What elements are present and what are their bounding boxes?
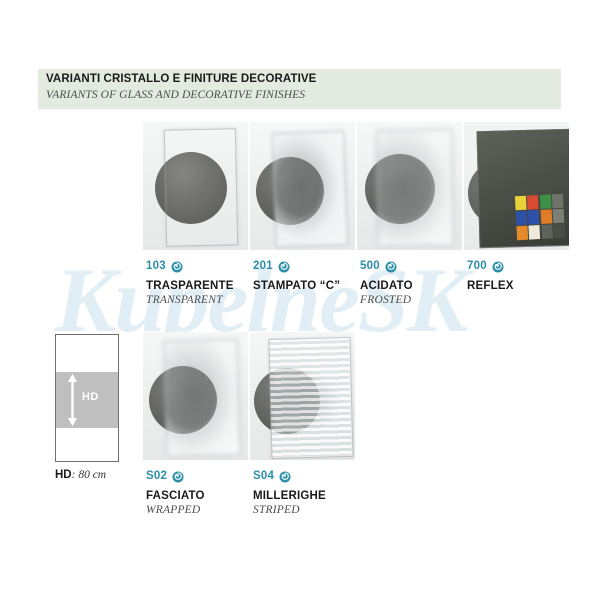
code-number: 201 <box>253 260 273 272</box>
code-row: 500 <box>360 258 413 273</box>
variant-name-it: FASCIATO <box>146 490 205 502</box>
sample-background <box>143 332 248 460</box>
code-row: S02 <box>146 468 205 483</box>
sample-background <box>143 122 248 250</box>
glass-sample-frosted[interactable] <box>357 122 462 250</box>
code-number: 700 <box>467 260 487 272</box>
section-header-band: VARIANTI CRISTALLO E FINITURE DECORATIVE… <box>38 69 561 109</box>
glass-sample-wrapped[interactable] <box>143 332 248 460</box>
glass-pane-diffused <box>272 131 348 247</box>
code-number: 500 <box>360 260 380 272</box>
variant-name-it: STAMPATO “C” <box>253 280 340 292</box>
sample-background <box>250 332 355 460</box>
hd-caption-label: HD <box>55 469 72 481</box>
code-number: S04 <box>253 470 274 482</box>
variant-name-it: ACIDATO <box>360 280 413 292</box>
variant-name-en: WRAPPED <box>146 504 205 516</box>
glass-swirl-icon <box>171 260 183 272</box>
glass-pane-wrapped <box>163 339 240 457</box>
hd-caption-value: : 80 cm <box>72 469 107 481</box>
caption-frosted: 500 ACIDATO FROSTED <box>360 258 413 306</box>
glass-sample-striped[interactable] <box>250 332 355 460</box>
code-row: 103 <box>146 258 234 273</box>
glass-sample-printed-c[interactable] <box>250 122 355 250</box>
caption-reflex: 700 REFLEX <box>467 258 514 294</box>
glass-swirl-icon <box>278 260 290 272</box>
color-checker-icon <box>515 194 565 240</box>
code-row: S04 <box>253 468 326 483</box>
glass-swirl-icon <box>279 470 291 482</box>
variant-name-it: TRASPARENTE <box>146 280 234 292</box>
variant-name-it: MILLERIGHE <box>253 490 326 502</box>
caption-striped: S04 MILLERIGHE STRIPED <box>253 468 326 516</box>
caption-wrapped: S02 FASCIATO WRAPPED <box>146 468 205 516</box>
glass-sample-transparent[interactable] <box>143 122 248 250</box>
glass-pane-edge <box>268 337 353 459</box>
hd-double-arrow-icon <box>67 374 78 426</box>
glass-swirl-icon <box>172 470 184 482</box>
variant-name-en: FROSTED <box>360 294 413 306</box>
variant-name-it: REFLEX <box>467 280 514 292</box>
sample-background <box>464 122 569 250</box>
glass-swirl-icon <box>492 260 504 272</box>
page-title: VARIANTI CRISTALLO E FINITURE DECORATIVE <box>46 73 316 85</box>
sample-background <box>250 122 355 250</box>
glass-sample-reflex[interactable] <box>464 122 569 250</box>
code-row: 700 <box>467 258 514 273</box>
hd-band-label: HD <box>82 391 99 403</box>
variant-name-en: TRANSPARENT <box>146 294 234 306</box>
code-row: 201 <box>253 258 340 273</box>
hd-diagram: HD <box>55 334 119 462</box>
caption-printed-c: 201 STAMPATO “C” <box>253 258 340 294</box>
page-subtitle: VARIANTS OF GLASS AND DECORATIVE FINISHE… <box>46 89 305 101</box>
code-number: 103 <box>146 260 166 272</box>
hd-caption: HD: 80 cm <box>55 469 106 481</box>
glass-pane <box>164 128 238 246</box>
glass-pane-frosted <box>376 129 454 246</box>
sample-background <box>357 122 462 250</box>
caption-transparent: 103 TRASPARENTE TRANSPARENT <box>146 258 234 306</box>
variant-name-en: STRIPED <box>253 504 326 516</box>
code-number: S02 <box>146 470 167 482</box>
glass-swirl-icon <box>385 260 397 272</box>
